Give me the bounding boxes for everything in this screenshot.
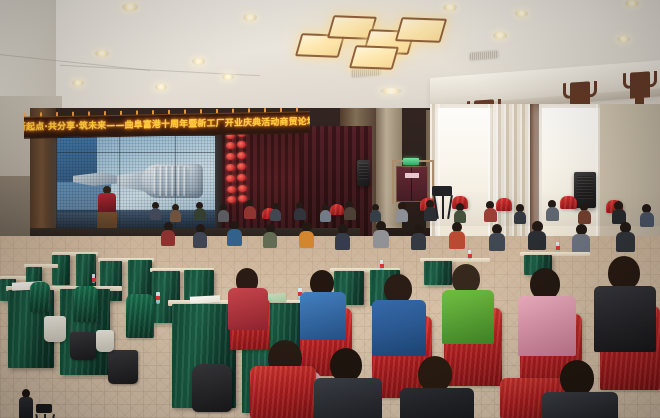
downlight-icon: [192, 58, 205, 65]
downlight-icon: [617, 36, 630, 42]
backpack: [70, 332, 96, 360]
water-bottle: [380, 260, 383, 270]
downlight-icon: [493, 32, 507, 39]
water-bottle: [468, 250, 471, 259]
backpack: [192, 364, 232, 412]
event-banner-text: 新起点·共分享·筑未来——曲阜富港十周年暨新工厂开业庆典活动商贸论坛: [24, 118, 310, 133]
downlight-icon: [380, 88, 402, 94]
water-bottle: [556, 242, 559, 251]
handbag: [96, 330, 114, 352]
door-notice: [405, 173, 419, 178]
ceiling-lamp-cluster: [288, 6, 458, 66]
backpack: [108, 350, 138, 384]
downlight-icon: [222, 74, 234, 80]
downlight-icon: [155, 84, 167, 90]
videographer-torso: [19, 397, 33, 418]
chair-green[interactable]: [30, 282, 50, 312]
lamp-panel: [395, 17, 447, 43]
downlight-icon: [122, 3, 138, 11]
camera-tripod: [32, 404, 54, 418]
chair-green[interactable]: [74, 286, 98, 322]
table-skirt: [52, 255, 70, 285]
handbag: [44, 316, 66, 342]
downlight-icon: [625, 0, 639, 7]
chair-green[interactable]: [126, 294, 154, 338]
lamp-panel: [349, 45, 399, 70]
water-bottle: [92, 274, 95, 283]
pa-speaker: [357, 160, 370, 186]
ceiling-vent: [470, 51, 498, 60]
downlight-icon: [95, 50, 109, 57]
water-bottle: [156, 292, 160, 304]
downlight-icon: [72, 80, 84, 86]
camera-operator-right: [432, 186, 454, 220]
video-camera: [36, 404, 52, 413]
exit-sign-icon: [403, 158, 419, 165]
table-skirt: [424, 261, 452, 285]
chair-red[interactable]: [250, 366, 316, 418]
conference-hall-photo: 新起点·共分享·筑未来——曲阜富港十周年暨新工厂开业庆典活动商贸论坛: [0, 0, 660, 418]
downlight-icon: [515, 10, 528, 17]
audience-area: [0, 190, 660, 418]
downlight-icon: [243, 14, 257, 21]
